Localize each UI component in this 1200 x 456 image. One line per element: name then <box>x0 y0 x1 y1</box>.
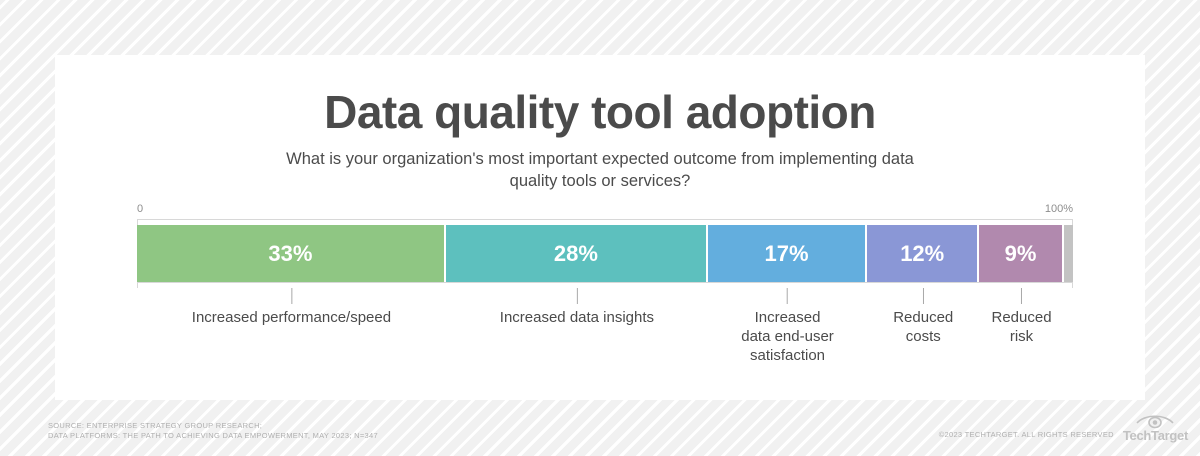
caption-leader-line <box>576 288 577 304</box>
bar-segment: 28% <box>446 225 708 282</box>
category-caption: Reduced risk <box>991 288 1051 346</box>
footer-right: ©2023 TECHTARGET. ALL RIGHTS RESERVED Te… <box>939 412 1188 442</box>
category-caption: Reduced costs <box>893 288 953 346</box>
bar-segment-value: 12% <box>900 241 944 267</box>
techtarget-wordmark: TechTarget <box>1123 429 1188 442</box>
category-caption: Increased data end-user satisfaction <box>741 288 834 365</box>
bar-segment-value: 9% <box>1005 241 1037 267</box>
category-caption: Increased data insights <box>500 288 654 327</box>
chart-title: Data quality tool adoption <box>55 85 1145 139</box>
eye-icon <box>1135 412 1175 429</box>
copyright-text: ©2023 TECHTARGET. ALL RIGHTS RESERVED <box>939 430 1114 439</box>
category-caption: Increased performance/speed <box>192 288 391 327</box>
source-note: SOURCE: ENTERPRISE STRATEGY GROUP RESEAR… <box>48 421 378 441</box>
bar-segment-value: 17% <box>764 241 808 267</box>
axis-min-label: 0 <box>137 203 143 215</box>
techtarget-logo: TechTarget <box>1123 412 1188 442</box>
bar-segment: 33% <box>137 225 446 282</box>
caption-leader-line <box>291 288 292 304</box>
category-label: Reduced costs <box>893 308 953 346</box>
category-label: Increased data end-user satisfaction <box>741 308 834 365</box>
axis-labels: 0 100% <box>137 203 1073 219</box>
caption-leader-line <box>1021 288 1022 304</box>
caption-leader-line <box>923 288 924 304</box>
stacked-bar: 33%28%17%12%9% <box>137 225 1073 282</box>
chart-card: Data quality tool adoption What is your … <box>55 55 1145 400</box>
bar-segment-remainder <box>1064 225 1073 282</box>
bar-segment: 12% <box>867 225 979 282</box>
chart-subtitle: What is your organization's most importa… <box>280 148 920 192</box>
bar-segment-value: 28% <box>554 241 598 267</box>
caption-leader-line <box>787 288 788 304</box>
bar-segment: 9% <box>979 225 1063 282</box>
axis-top-rule <box>137 219 1073 225</box>
bar-segment: 17% <box>708 225 867 282</box>
axis-max-label: 100% <box>1045 203 1073 215</box>
category-captions: Increased performance/speedIncreased dat… <box>137 288 1073 378</box>
plot-area: 0 100% 33%28%17%12%9% Increased performa… <box>137 203 1073 378</box>
category-label: Increased data insights <box>500 308 654 327</box>
category-label: Increased performance/speed <box>192 308 391 327</box>
bar-segment-value: 33% <box>268 241 312 267</box>
category-label: Reduced risk <box>991 308 1051 346</box>
